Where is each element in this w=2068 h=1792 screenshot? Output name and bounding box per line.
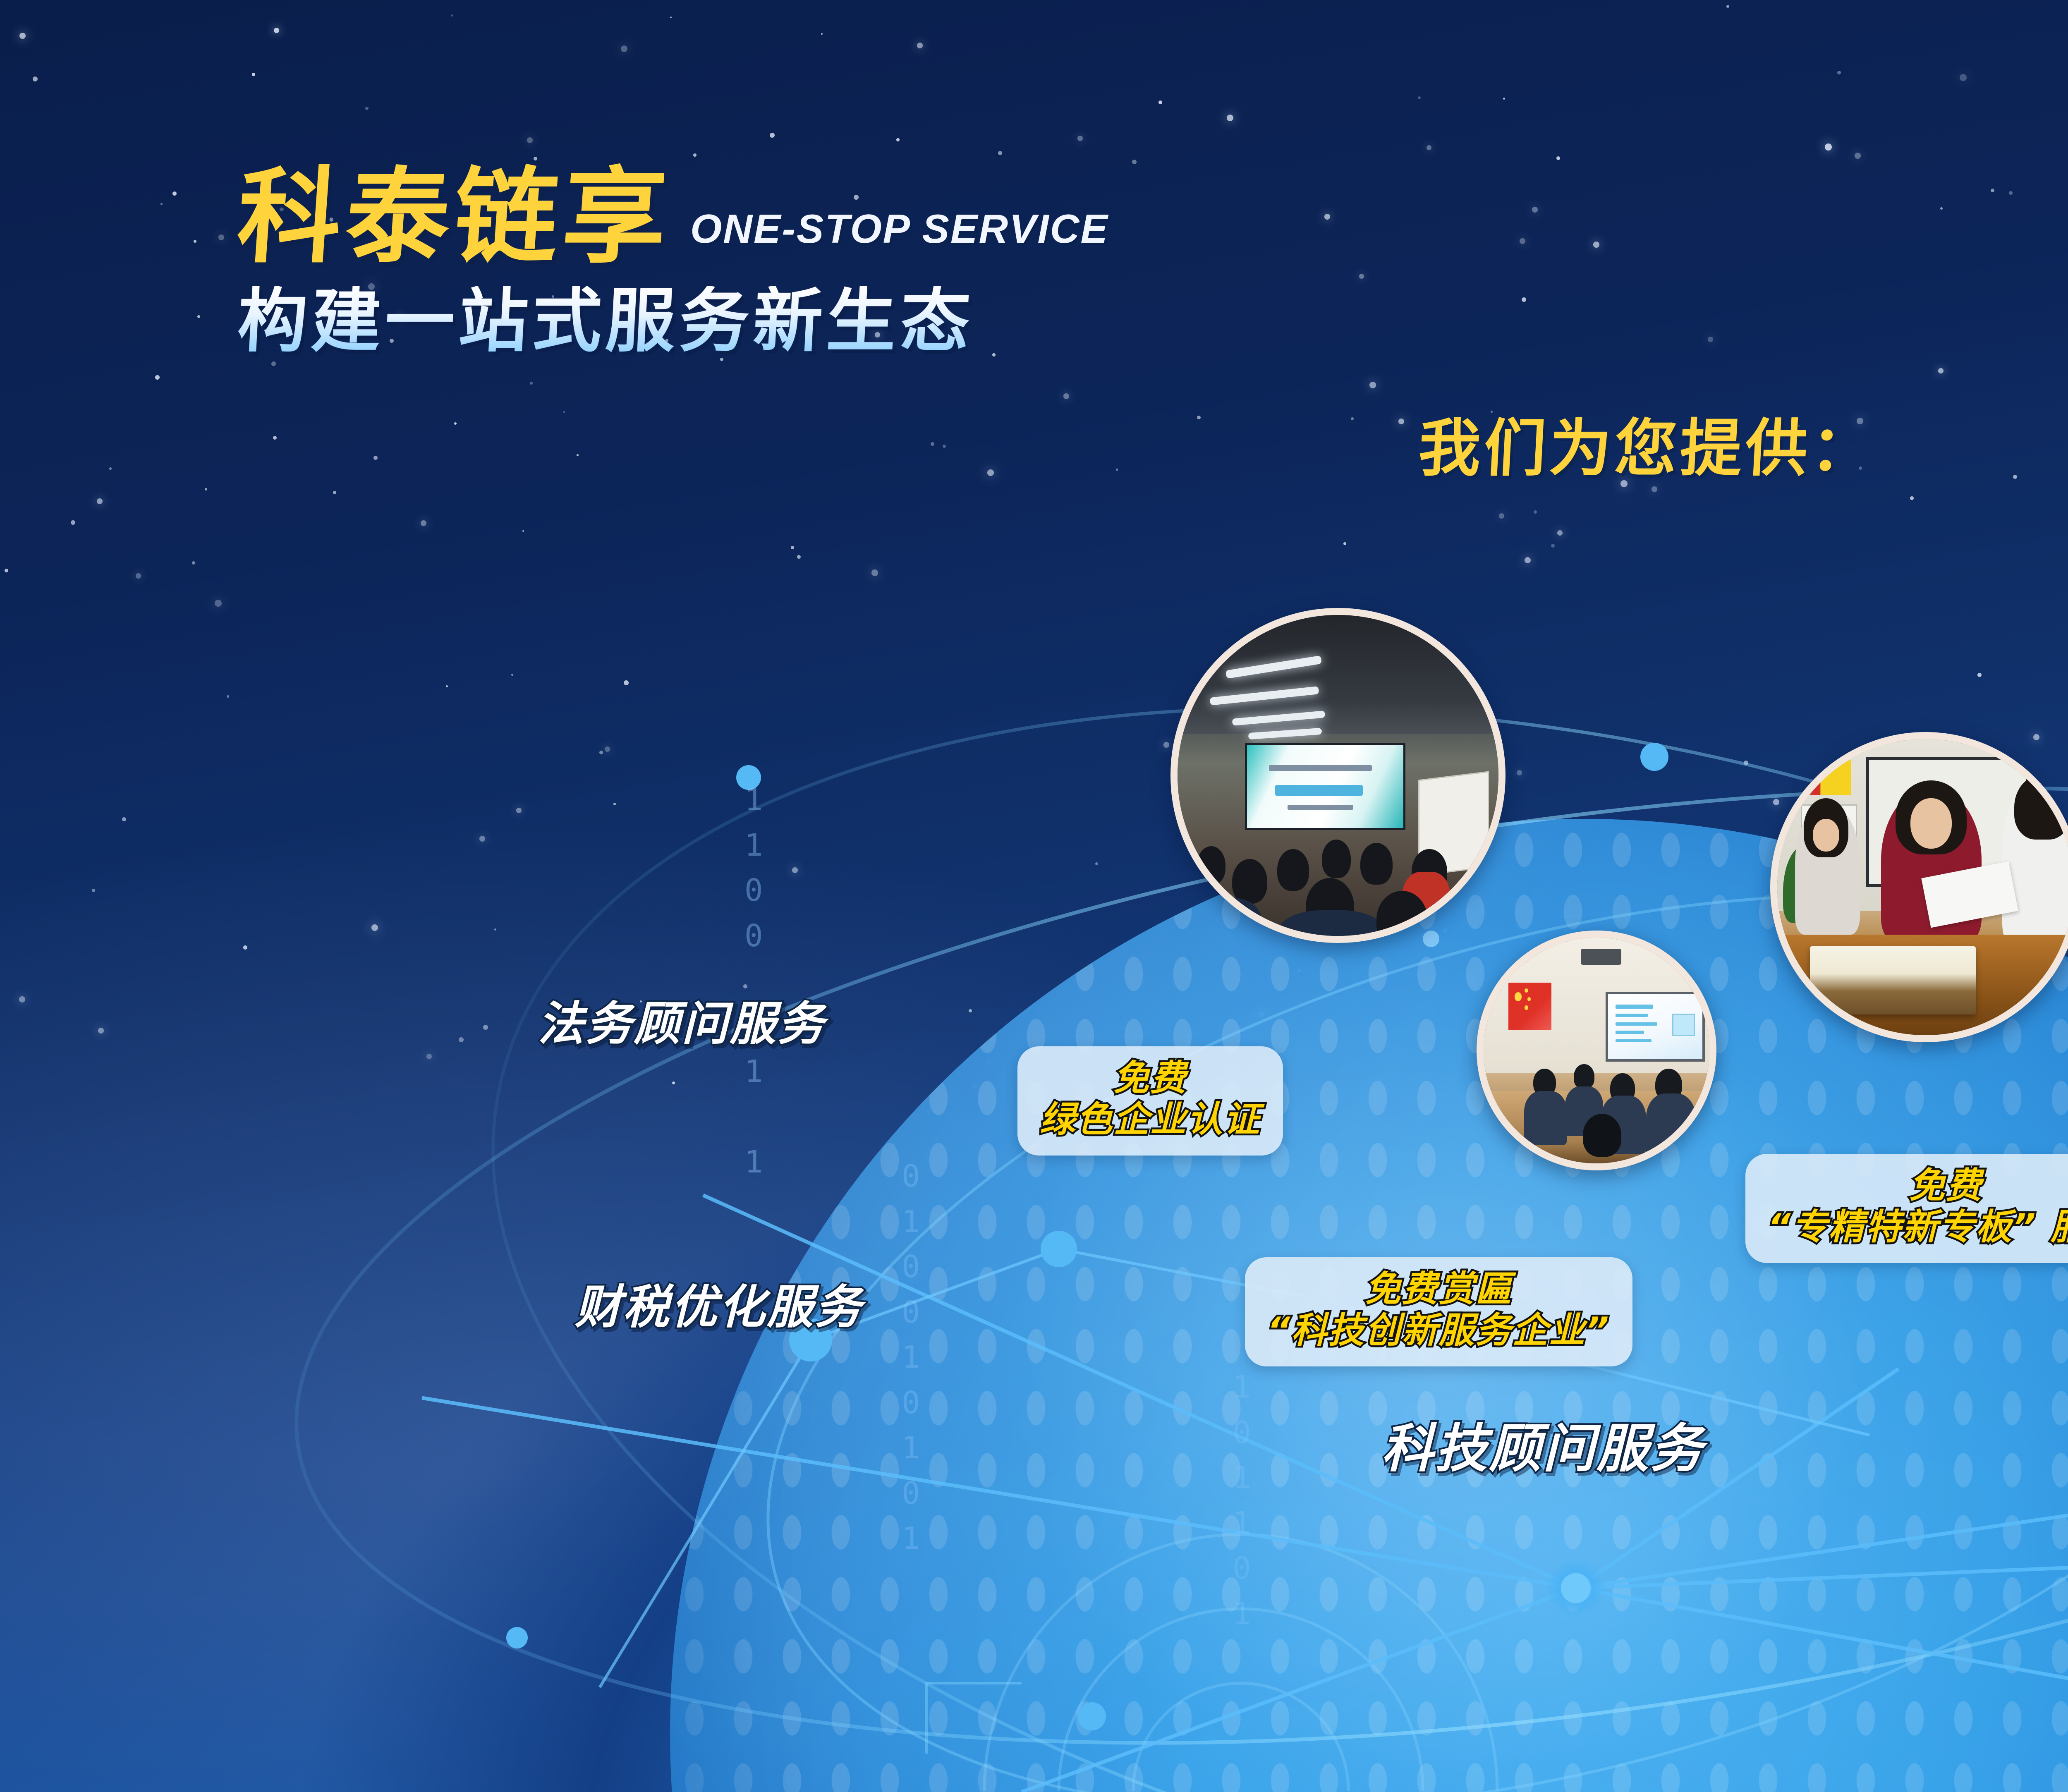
photo-seminar-hall [1170,608,1506,943]
badge-line-2: 绿色企业认证 [1040,1099,1261,1141]
photo-office-consultation [1770,732,2068,1042]
badge-line-2: “专精特新专板” 服务 [1768,1207,2068,1248]
badge-line-1: 免费 [1040,1058,1261,1099]
badge-line-1: 免费 [1768,1165,2068,1207]
service-label-tax-optimization: 财税优化服务 [575,1284,863,1330]
promo-banner: 1 1 0 0 0 1 1 1 1 0 0 0 1 0 1 1 1 0 1 1 … [0,0,2068,1792]
badge-green-enterprise-certification[interactable]: 免费 绿色企业认证 [1017,1046,1283,1156]
badge-line-1: 免费赏匾 [1267,1269,1610,1310]
page-title-english: ONE-STOP SERVICE [690,206,1109,269]
page-title: 科泰链享 [234,165,675,269]
page-subtitle: 构建一站式服务新生态 [236,286,1111,356]
offer-heading: 我们为您提供： [1417,418,1878,480]
service-label-legal-advisory: 法务顾问服务 [538,1001,826,1047]
photo-training-room [1477,931,1716,1170]
badge-specialized-new-board-service[interactable]: 免费 “专精特新专板” 服务 [1745,1154,2068,1263]
badge-free-plaque-tech-innovation[interactable]: 免费赏匾 “科技创新服务企业” [1245,1257,1632,1366]
service-label-tech-advisory: 科技顾问服务 [1381,1423,1704,1475]
headline-block: 科泰链享 ONE-STOP SERVICE 构建一站式服务新生态 [238,165,1109,356]
badge-line-2: “科技创新服务企业” [1267,1310,1610,1352]
binary-column-1: 1 1 0 0 0 1 1 [744,778,764,1185]
